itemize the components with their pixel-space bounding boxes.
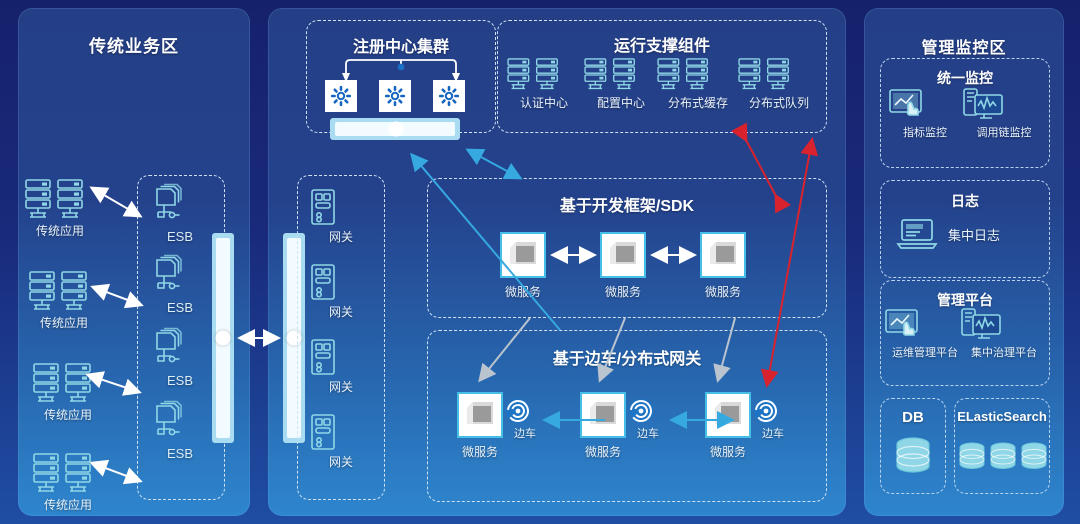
legacy-app-2[interactable]: 传统应用 [32, 362, 104, 423]
metrics-dashboard-icon [886, 88, 964, 122]
gateway-item-0[interactable]: 网关 [308, 188, 374, 245]
legacy-app-label-0: 传统应用 [24, 222, 96, 239]
gateway-icon [308, 188, 374, 226]
esb-item-0[interactable]: ESB [148, 185, 212, 244]
panel-title-legacy: 传统业务区 [18, 32, 250, 57]
legacy-app-3[interactable]: 传统应用 [32, 452, 104, 513]
runtime-label-2: 分布式缓存 [655, 94, 741, 111]
monitoring-item-1[interactable]: 调用链监控 [962, 88, 1046, 140]
registry-bus-knob[interactable] [389, 122, 404, 137]
runtime-label-3: 分布式队列 [736, 94, 822, 111]
cube-icon [500, 232, 546, 278]
sidecar-label-1: 边车 [628, 425, 668, 441]
sidecar-1[interactable]: 边车 [628, 398, 668, 441]
runtime-label-0: 认证中心 [505, 94, 583, 111]
esb-item-3[interactable]: ESB [148, 402, 212, 461]
sidecar-icon [505, 398, 545, 424]
runtime-support-title: 运行支撑组件 [498, 32, 826, 56]
monitoring-item-0[interactable]: 指标监控 [886, 88, 964, 140]
runtime-item-0[interactable]: 认证中心 [505, 58, 583, 111]
gateway-label-2: 网关 [308, 378, 374, 395]
metrics-dashboard-icon [882, 308, 968, 342]
platform-title: 管理平台 [881, 290, 1049, 310]
sidecar-icon [628, 398, 668, 424]
legacy-app-0[interactable]: 传统应用 [24, 178, 96, 239]
legacy-app-label-3: 传统应用 [32, 496, 104, 513]
gateway-label-3: 网关 [308, 453, 374, 470]
esb-icon [148, 185, 212, 227]
sidecar-service-0[interactable]: 微服务 [455, 392, 505, 460]
esb-label-2: ESB [148, 373, 212, 388]
sidecar-service-label-0: 微服务 [455, 443, 505, 460]
server-stack-icon [32, 452, 104, 494]
gateway-item-3[interactable]: 网关 [308, 413, 374, 470]
gateway-icon [308, 263, 374, 301]
laptop-icon [896, 218, 938, 250]
storage-title-db: DB [881, 409, 945, 426]
cube-icon [580, 392, 626, 438]
monitoring-label-1: 调用链监控 [962, 124, 1046, 140]
logging-label-0: 集中日志 [948, 225, 1000, 244]
runtime-item-2[interactable]: 分布式缓存 [655, 58, 741, 111]
trace-monitor-icon [960, 308, 1048, 342]
gateway-icon [308, 413, 374, 451]
database-icon [893, 436, 933, 480]
sidecar-label-0: 边车 [505, 425, 545, 441]
sidecar-service-1[interactable]: 微服务 [578, 392, 628, 460]
cube-icon [705, 392, 751, 438]
gateway-item-1[interactable]: 网关 [308, 263, 374, 320]
sidecar-label-2: 边车 [753, 425, 793, 441]
gateway-icon [308, 338, 374, 376]
platform-item-0[interactable]: 运维管理平台 [882, 308, 968, 360]
runtime-label-1: 配置中心 [582, 94, 660, 111]
legacy-app-label-2: 传统应用 [32, 406, 104, 423]
sidecar-service-2[interactable]: 微服务 [703, 392, 753, 460]
sidecar-2[interactable]: 边车 [753, 398, 793, 441]
es-cylinders [957, 436, 1049, 480]
gear-icon [325, 80, 357, 112]
sidecar-icon [753, 398, 793, 424]
legacy-app-1[interactable]: 传统应用 [28, 270, 100, 331]
database-icon [988, 436, 1018, 480]
cube-icon [600, 232, 646, 278]
esb-bus-bar[interactable] [212, 233, 234, 443]
cube-icon [700, 232, 746, 278]
sidecar-0[interactable]: 边车 [505, 398, 545, 441]
sdk-service-label-2: 微服务 [698, 283, 748, 300]
registry-node-0[interactable] [325, 80, 357, 112]
server-stack-icon [505, 58, 583, 92]
monitoring-title: 统一监控 [881, 68, 1049, 88]
platform-label-1: 集中治理平台 [960, 344, 1048, 360]
sidecar-service-label-2: 微服务 [703, 443, 753, 460]
server-stack-icon [655, 58, 741, 92]
database-icon [1019, 436, 1049, 480]
esb-label-3: ESB [148, 446, 212, 461]
runtime-item-1[interactable]: 配置中心 [582, 58, 660, 111]
registry-node-1[interactable] [379, 80, 411, 112]
trace-monitor-icon [962, 88, 1046, 122]
esb-icon [148, 329, 212, 371]
storage-title-es: ELasticSearch [955, 409, 1049, 424]
sdk-service-label-1: 微服务 [598, 283, 648, 300]
sdk-service-2[interactable]: 微服务 [698, 232, 748, 300]
server-stack-icon [24, 178, 96, 220]
gear-icon [433, 80, 465, 112]
gear-icon [379, 80, 411, 112]
sidecar-group-title: 基于边车/分布式网关 [428, 345, 826, 369]
server-stack-icon [32, 362, 104, 404]
gateway-label-1: 网关 [308, 303, 374, 320]
esb-label-0: ESB [148, 229, 212, 244]
server-stack-icon [582, 58, 660, 92]
gateway-label-0: 网关 [308, 228, 374, 245]
legacy-app-label-1: 传统应用 [28, 314, 100, 331]
logging-item-0[interactable]: 集中日志 [896, 218, 1000, 250]
registry-node-2[interactable] [433, 80, 465, 112]
database-icon [957, 436, 987, 480]
platform-label-0: 运维管理平台 [882, 344, 968, 360]
sdk-service-1[interactable]: 微服务 [598, 232, 648, 300]
sdk-service-0[interactable]: 微服务 [498, 232, 548, 300]
monitoring-label-0: 指标监控 [886, 124, 964, 140]
db-cylinder [893, 436, 933, 480]
sdk-service-label-0: 微服务 [498, 283, 548, 300]
sidecar-service-label-1: 微服务 [578, 443, 628, 460]
platform-item-1[interactable]: 集中治理平台 [960, 308, 1048, 360]
panel-title-management: 管理监控区 [864, 34, 1064, 58]
esb-label-1: ESB [148, 300, 212, 315]
server-stack-icon [736, 58, 822, 92]
sdk-group-title: 基于开发框架/SDK [428, 192, 826, 216]
architecture-diagram: 传统业务区 传统应用 [0, 0, 1080, 524]
esb-icon [148, 256, 212, 298]
registry-bus-bar[interactable] [330, 118, 460, 140]
gateway-item-2[interactable]: 网关 [308, 338, 374, 395]
esb-item-1[interactable]: ESB [148, 256, 212, 315]
esb-icon [148, 402, 212, 444]
esb-item-2[interactable]: ESB [148, 329, 212, 388]
esb-bus-knob[interactable] [216, 331, 231, 346]
server-stack-icon [28, 270, 100, 312]
runtime-item-3[interactable]: 分布式队列 [736, 58, 822, 111]
logging-title: 日志 [881, 191, 1049, 211]
cube-icon [457, 392, 503, 438]
